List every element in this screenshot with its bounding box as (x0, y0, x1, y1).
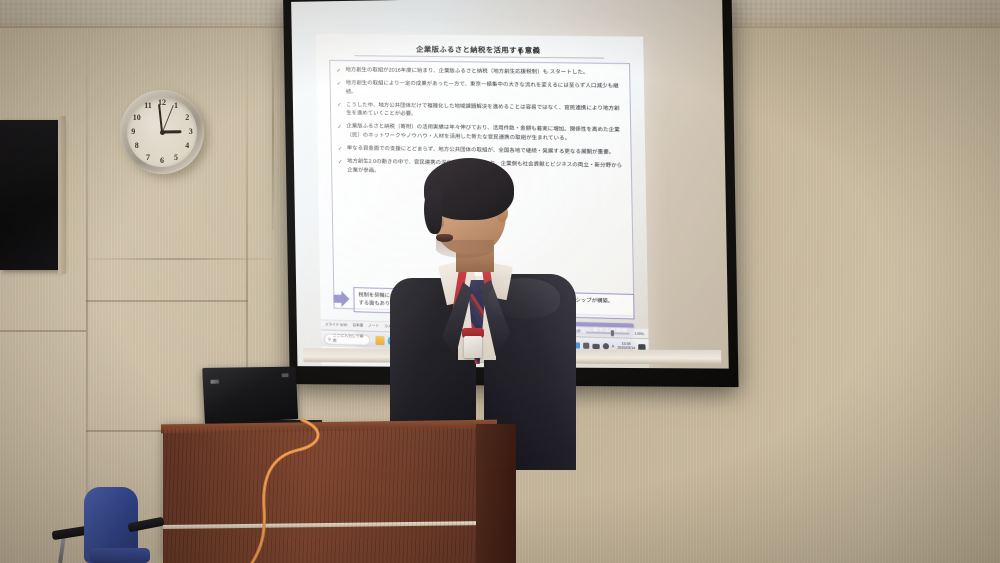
name-badge (464, 336, 482, 358)
wall-seam (272, 30, 274, 230)
clock-numeral-3: 3 (189, 128, 193, 136)
hair-sideburn (424, 188, 442, 234)
laptop-badge (282, 373, 289, 377)
clock-numeral-7: 7 (146, 154, 150, 162)
zoom-slider-handle[interactable] (611, 330, 614, 336)
presenter-laptop (202, 367, 298, 424)
wall-seam (86, 30, 88, 560)
language-label: 日本語 (352, 323, 363, 328)
ime-indicator[interactable]: A (612, 344, 615, 348)
cabinet-line (0, 330, 86, 332)
network-icon[interactable] (583, 343, 589, 349)
slide-bullet: ✓ 企業版ふるさと納税（寄附）の活用実績は年々伸びており、活用件数・金額も着実に… (337, 123, 624, 145)
clock-numeral-11: 11 (144, 102, 152, 110)
slide-bullet: ✓ こうした中、地方公共団体だけで複雑化した地域課題解決を進めることは容易ではな… (337, 101, 624, 122)
checkmark-icon: ✓ (337, 101, 342, 110)
volume-icon[interactable] (602, 343, 608, 349)
battery-icon[interactable] (592, 343, 599, 348)
search-icon: ⚲ (328, 336, 331, 341)
chair-seat (90, 548, 150, 563)
laptop-logo (210, 380, 219, 384)
slide-bullet-text: 企業版ふるさと納税（寄附）の活用実績は年々伸びており、活用件数・金額も着実に増加… (346, 124, 619, 142)
wall-seam-h (86, 258, 272, 260)
zoom-slider[interactable] (586, 331, 630, 334)
slide-bullet-text: 地方創生の取組により一定の成果があった一方で、東京一極集中の大きな流れを変えるに… (346, 80, 619, 95)
clock-numeral-9: 9 (131, 128, 135, 136)
clock-numeral-10: 10 (133, 114, 141, 122)
cabinet-line (86, 300, 248, 302)
wall-panel-frame (58, 116, 66, 274)
clock-numeral-4: 4 (185, 142, 189, 150)
slide-number-label: スライド 6/30 (325, 322, 348, 328)
clock-face: 12 1 2 3 4 5 6 7 8 9 10 11 (127, 97, 197, 167)
photo-scene: 12 1 2 3 4 5 6 7 8 9 10 11 企業版ふるさと納税を活用す… (0, 0, 1000, 563)
clock-numeral-1: 1 (174, 102, 178, 110)
checkmark-icon: ✓ (337, 123, 342, 132)
shoulder-highlight (488, 278, 560, 318)
notes-button[interactable]: ノート (368, 324, 379, 329)
lectern-side-panel (476, 424, 516, 563)
wall-clock: 12 1 2 3 4 5 6 7 8 9 10 11 (120, 90, 204, 174)
checkmark-icon: ✓ (337, 80, 342, 89)
slide-bullet-text: こうした中、地方公共団体だけで複雑化した地域課題解決を進めることは容易ではなく、… (346, 102, 620, 118)
jaw-shadow (436, 240, 494, 258)
checkmark-icon: ✓ (338, 158, 343, 167)
clock-center-pin (160, 130, 165, 135)
zoom-level-label: 130% (635, 331, 645, 335)
dark-wall-panel (0, 120, 62, 270)
checkmark-icon: ✓ (336, 67, 341, 76)
clock-numeral-6: 6 (160, 157, 164, 165)
clock-hour-hand (162, 130, 181, 133)
lectern (163, 428, 493, 563)
checkmark-icon: ✓ (338, 145, 343, 154)
taskbar-search-box[interactable]: ⚲ ここに入力して検索 (324, 333, 371, 345)
presenter (380, 160, 580, 450)
slide-bullet-text: 地方創生の取組が2016年度に始まり、企業版ふるさと納税（地方創生応援税制）も … (345, 67, 588, 76)
slide-bullet-text: 単なる資金面での支援にとどまらず、地方公共団体の取組が、全国各地で継続・発展する… (347, 145, 615, 155)
clock-numeral-8: 8 (135, 142, 139, 150)
arrow-right-icon (333, 289, 349, 309)
slide-bullet: ✓ 単なる資金面での支援にとどまらず、地方公共団体の取組が、全国各地で継続・発展… (338, 144, 625, 157)
search-placeholder: ここに入力して検索 (333, 334, 367, 345)
slide-bullet: ✓ 地方創生の取組により一定の成果があった一方で、東京一極集中の大きな流れを変え… (337, 79, 624, 100)
mouth (436, 234, 453, 242)
lectern-trim-stripe (163, 521, 493, 529)
clock-numeral-2: 2 (185, 114, 189, 122)
clock-second-hand (162, 105, 174, 132)
clock-numeral-5: 5 (174, 154, 178, 162)
slide-bullet: ✓ 地方創生の取組が2016年度に始まり、企業版ふるさと納税（地方創生応援税制）… (336, 66, 623, 78)
